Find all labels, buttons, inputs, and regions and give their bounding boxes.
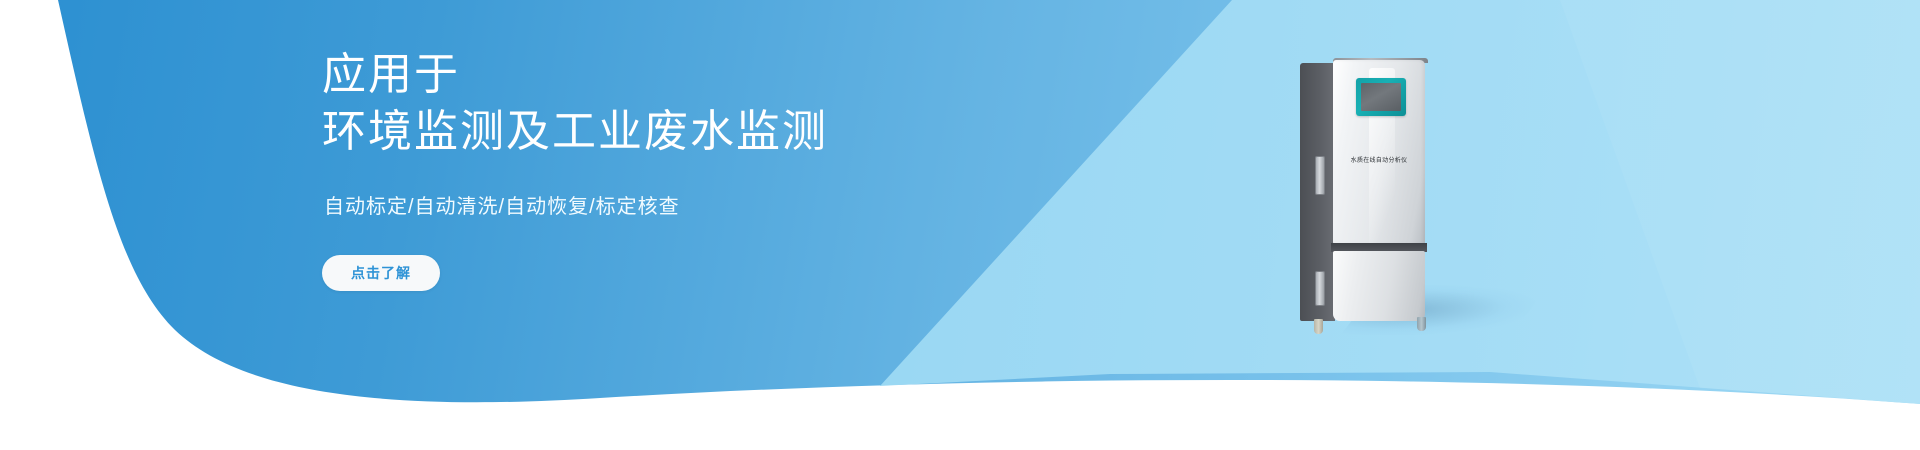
- page-title: 应用于 环境监测及工业废水监测: [322, 46, 1022, 160]
- headline-line-1: 应用于: [322, 50, 460, 99]
- device-screen-bezel: [1356, 78, 1406, 116]
- device-lower-handle-icon: [1315, 271, 1325, 306]
- headline-line-2: 环境监测及工业废水监测: [322, 103, 1022, 160]
- device-side-panel: [1300, 63, 1335, 321]
- hero-banner: 应用于 环境监测及工业废水监测 自动标定/自动清洗/自动恢复/标定核查 点击了解…: [0, 0, 1920, 450]
- banner-subtitle: 自动标定/自动清洗/自动恢复/标定核查: [324, 190, 1022, 219]
- device-upper-handle-icon: [1315, 156, 1325, 195]
- device-caster-left-icon: [1314, 319, 1323, 334]
- device-lower-door: [1333, 251, 1425, 321]
- device-product-label: 水质在线自动分析仪: [1333, 155, 1425, 164]
- device-caster-right-icon: [1417, 317, 1426, 331]
- water-quality-analyzer-image: 水质在线自动分析仪: [1300, 55, 1455, 330]
- banner-content: 应用于 环境监测及工业废水监测 自动标定/自动清洗/自动恢复/标定核查 点击了解: [322, 46, 1022, 291]
- device-display-screen: [1361, 83, 1401, 111]
- learn-more-button[interactable]: 点击了解: [322, 255, 440, 291]
